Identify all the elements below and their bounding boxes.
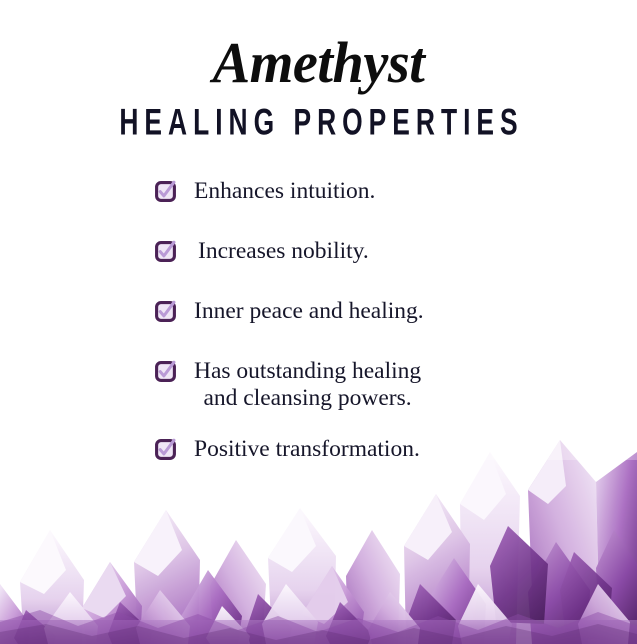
list-item: Positive transformation. (0, 436, 637, 463)
list-item-label: Positive transformation. (194, 436, 420, 463)
checkbox-checked-icon (155, 301, 176, 322)
list-item: Has outstanding healing and cleansing po… (0, 358, 637, 412)
list-item-label: Inner peace and healing. (194, 298, 424, 325)
poster-canvas: Amethyst HEALING PROPERTIES Enhances int… (0, 0, 637, 644)
properties-list: Enhances intuition. Increases nobility. … (0, 178, 637, 463)
list-item: Inner peace and healing. (0, 298, 637, 325)
checkbox-checked-icon (155, 241, 176, 262)
amethyst-crystal-cluster-image (0, 434, 637, 644)
page-title: Amethyst (10, 0, 628, 92)
page-subtitle: HEALING PROPERTIES (64, 92, 574, 140)
checkbox-checked-icon (155, 361, 176, 382)
heading-block: Amethyst HEALING PROPERTIES (0, 0, 637, 135)
list-item: Enhances intuition. (0, 178, 637, 205)
list-item-label: Enhances intuition. (194, 178, 375, 205)
checkbox-checked-icon (155, 439, 176, 460)
list-item-label: Has outstanding healing and cleansing po… (194, 358, 421, 412)
checkbox-checked-icon (155, 181, 176, 202)
list-item: Increases nobility. (0, 238, 637, 265)
list-item-label: Increases nobility. (194, 238, 369, 265)
